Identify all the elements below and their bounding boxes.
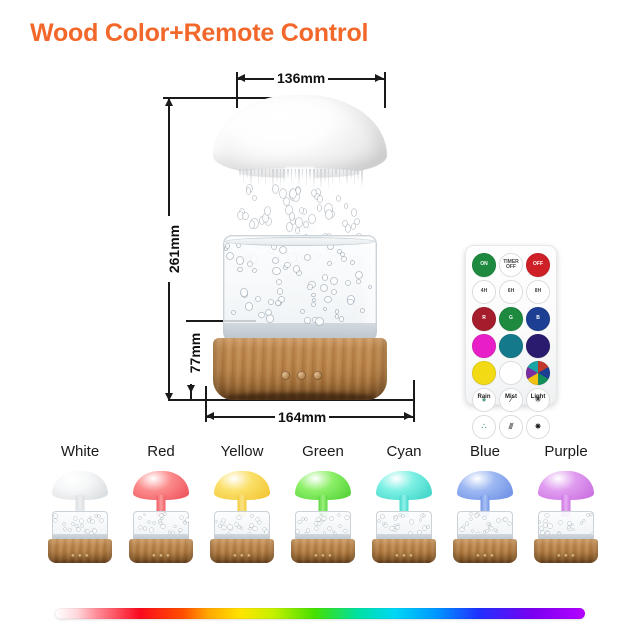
remote-button-label: ✷: [535, 423, 542, 431]
variant-wood-base: [453, 539, 517, 563]
dim-164-arrow-left-icon: [206, 412, 214, 420]
color-variant-green[interactable]: Green: [284, 443, 362, 565]
remote-button-r5c3[interactable]: [526, 361, 550, 385]
variant-base-buttons[interactable]: [315, 554, 332, 557]
color-variant-label: Green: [284, 443, 362, 460]
remote-button-label: OFF: [533, 262, 543, 267]
dim-261-label: 261mm: [166, 216, 182, 282]
color-variant-label: Blue: [446, 443, 524, 460]
remote-button-r1c3[interactable]: OFF: [526, 253, 550, 277]
color-variant-label: Red: [122, 443, 200, 460]
color-variant-label: Yellow: [203, 443, 281, 460]
dim-164-label: 164mm: [275, 409, 329, 425]
remote-footer-labels: RainMistLight: [472, 394, 550, 400]
remote-button-r3c2[interactable]: G: [499, 307, 523, 331]
variant-base-buttons[interactable]: [396, 554, 413, 557]
wood-base: [213, 338, 387, 400]
variant-water-tank: [214, 511, 270, 542]
dim-136-arrow-right-icon: [375, 74, 383, 82]
dim-164-right-extension: [413, 380, 415, 422]
main-product-humidifier: [205, 95, 395, 400]
remote-button-grid[interactable]: ONTIMER OFFOFF4H6H8HRGB●∕☀∴⫻✷: [472, 253, 550, 439]
remote-button-r3c3[interactable]: B: [526, 307, 550, 331]
variant-water-tank: [538, 511, 594, 542]
remote-button-label: ⫻: [509, 423, 514, 431]
color-variant-purple[interactable]: Purple: [527, 443, 605, 565]
color-variant-yellow[interactable]: Yellow: [203, 443, 281, 565]
tank-rim: [225, 237, 375, 246]
page-title: Wood Color+Remote Control: [30, 19, 368, 48]
product-image-canvas: Wood Color+Remote Control 136mm 261mm 77…: [0, 0, 640, 640]
dim-77-label: 77mm: [187, 322, 203, 384]
remote-button-r7c2[interactable]: ⫻: [499, 415, 523, 439]
mushroom-cap: [213, 95, 387, 175]
variant-base-buttons[interactable]: [558, 554, 575, 557]
variant-wood-base: [534, 539, 598, 563]
remote-button-label: 6H: [508, 289, 514, 294]
remote-button-label: 8H: [535, 289, 541, 294]
variant-water-tank: [457, 511, 513, 542]
remote-button-label: G: [509, 316, 513, 321]
water-tank: [223, 235, 377, 345]
remote-button-r6c1[interactable]: ●: [472, 388, 496, 412]
color-variant-blue[interactable]: Blue: [446, 443, 524, 565]
dim-136-arrow-left-icon: [237, 74, 245, 82]
remote-footer-label-light: Light: [526, 394, 550, 400]
base-button-2[interactable]: [297, 371, 306, 380]
variant-base-buttons[interactable]: [72, 554, 89, 557]
base-button-3[interactable]: [313, 371, 322, 380]
variant-base-buttons[interactable]: [153, 554, 170, 557]
dim-164-arrow-right-icon: [404, 412, 412, 420]
variant-water-tank: [52, 511, 108, 542]
remote-button-label: ∴: [481, 423, 486, 431]
remote-control[interactable]: ONTIMER OFFOFF4H6H8HRGB●∕☀∴⫻✷ RainMistLi…: [465, 245, 557, 405]
variant-wood-base: [291, 539, 355, 563]
variant-water-tank: [295, 511, 351, 542]
remote-button-r2c3[interactable]: 8H: [526, 280, 550, 304]
variant-base-buttons[interactable]: [234, 554, 251, 557]
remote-button-r7c3[interactable]: ✷: [526, 415, 550, 439]
remote-button-r4c2[interactable]: [499, 334, 523, 358]
remote-button-r7c1[interactable]: ∴: [472, 415, 496, 439]
color-variant-label: White: [41, 443, 119, 460]
remote-button-r4c3[interactable]: [526, 334, 550, 358]
variant-water-tank: [376, 511, 432, 542]
remote-button-r2c1[interactable]: 4H: [472, 280, 496, 304]
variant-wood-base: [372, 539, 436, 563]
remote-button-r2c2[interactable]: 6H: [499, 280, 523, 304]
color-variant-cyan[interactable]: Cyan: [365, 443, 443, 565]
remote-button-label: B: [536, 316, 540, 321]
remote-footer-label-rain: Rain: [472, 394, 496, 400]
color-variant-white[interactable]: White: [41, 443, 119, 565]
remote-button-r5c1[interactable]: [472, 361, 496, 385]
color-variant-red[interactable]: Red: [122, 443, 200, 565]
base-button-1[interactable]: [281, 371, 290, 380]
remote-button-r3c1[interactable]: R: [472, 307, 496, 331]
remote-footer-label-mist: Mist: [499, 394, 523, 400]
remote-button-label: ON: [480, 262, 488, 267]
remote-button-r4c1[interactable]: [472, 334, 496, 358]
dim-136-label: 136mm: [274, 70, 328, 86]
variant-wood-base: [129, 539, 193, 563]
color-variant-label: Cyan: [365, 443, 443, 460]
remote-button-r1c1[interactable]: ON: [472, 253, 496, 277]
remote-button-r5c2[interactable]: [499, 361, 523, 385]
remote-button-r6c3[interactable]: ☀: [526, 388, 550, 412]
remote-button-r1c2[interactable]: TIMER OFF: [499, 253, 523, 277]
color-variant-label: Purple: [527, 443, 605, 460]
remote-button-label: R: [482, 316, 486, 321]
dim-77-arrow-down-icon: [187, 385, 195, 393]
variant-wood-base: [48, 539, 112, 563]
variant-base-buttons[interactable]: [477, 554, 494, 557]
rainbow-gradient-bar: [55, 608, 585, 619]
variant-water-tank: [133, 511, 189, 542]
remote-button-label: TIMER OFF: [503, 260, 519, 271]
dim-261-arrow-up-icon: [165, 98, 173, 106]
remote-button-label: 4H: [481, 289, 487, 294]
remote-button-r6c2[interactable]: ∕: [499, 388, 523, 412]
variant-wood-base: [210, 539, 274, 563]
